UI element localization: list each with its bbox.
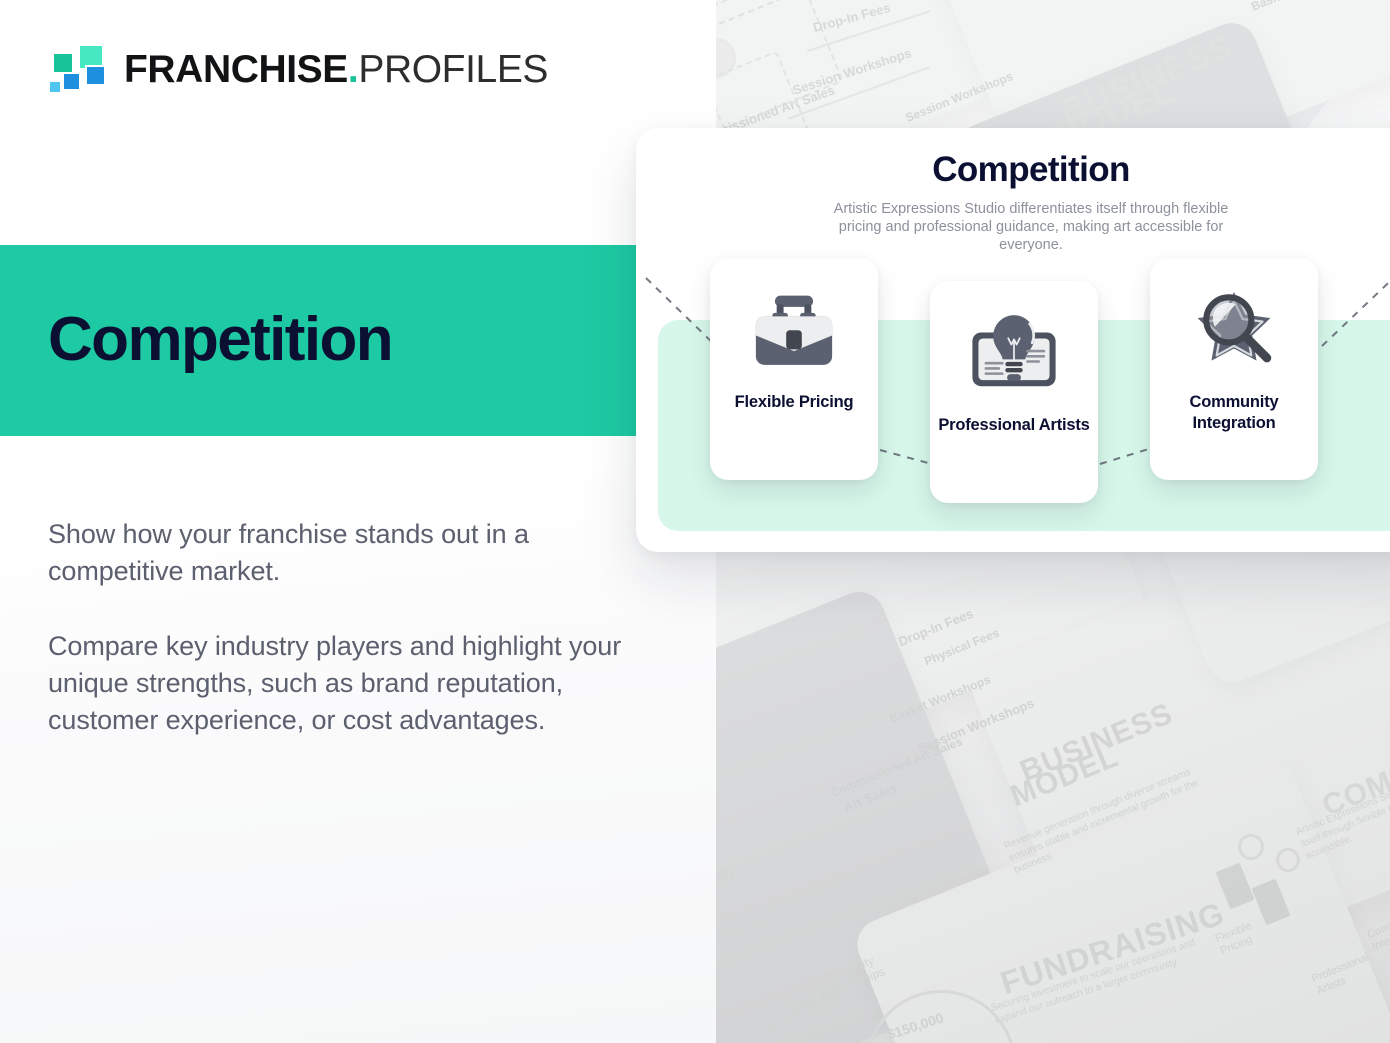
left-body-copy: Show how your franchise stands out in a … <box>48 516 638 739</box>
ghost-shape <box>1276 848 1300 872</box>
slide-canvas: Drop-In Fees Session Workshops Commissio… <box>0 0 1390 1043</box>
franchise-profiles-logo-icon <box>48 44 106 96</box>
card-subtitle: Artistic Expressions Studio differentiat… <box>831 200 1231 254</box>
page-title: Competition <box>48 304 392 375</box>
brand-wordmark: FRANCHISE.PROFILES <box>124 48 548 92</box>
competition-slide-card: Competition Artistic Expressions Studio … <box>636 128 1390 552</box>
brand-word-primary: FRANCHISE <box>124 48 348 92</box>
body-paragraph-1: Show how your franchise stands out in a … <box>48 516 638 590</box>
ghost-shape <box>1238 834 1264 860</box>
ghost-label: Community Integration <box>1366 904 1390 954</box>
feature-label: Community Integration <box>1150 392 1318 434</box>
feature-label: Professional Artists <box>938 415 1089 436</box>
brand-word-dot: . <box>348 48 358 92</box>
brand-logo[interactable]: FRANCHISE.PROFILES <box>48 44 548 96</box>
feature-card-community-integration[interactable]: Community Integration <box>1150 258 1318 480</box>
star-magnifier-icon <box>1182 280 1286 384</box>
body-paragraph-2: Compare key industry players and highlig… <box>48 628 638 739</box>
card-title: Competition <box>636 150 1390 190</box>
briefcase-icon <box>742 280 846 384</box>
feature-card-professional-artists[interactable]: Professional Artists <box>930 281 1098 503</box>
brand-word-secondary: PROFILES <box>358 48 548 92</box>
feature-card-flexible-pricing[interactable]: Flexible Pricing <box>710 258 878 480</box>
lightbulb-board-icon <box>962 303 1066 407</box>
feature-label: Flexible Pricing <box>735 392 854 413</box>
